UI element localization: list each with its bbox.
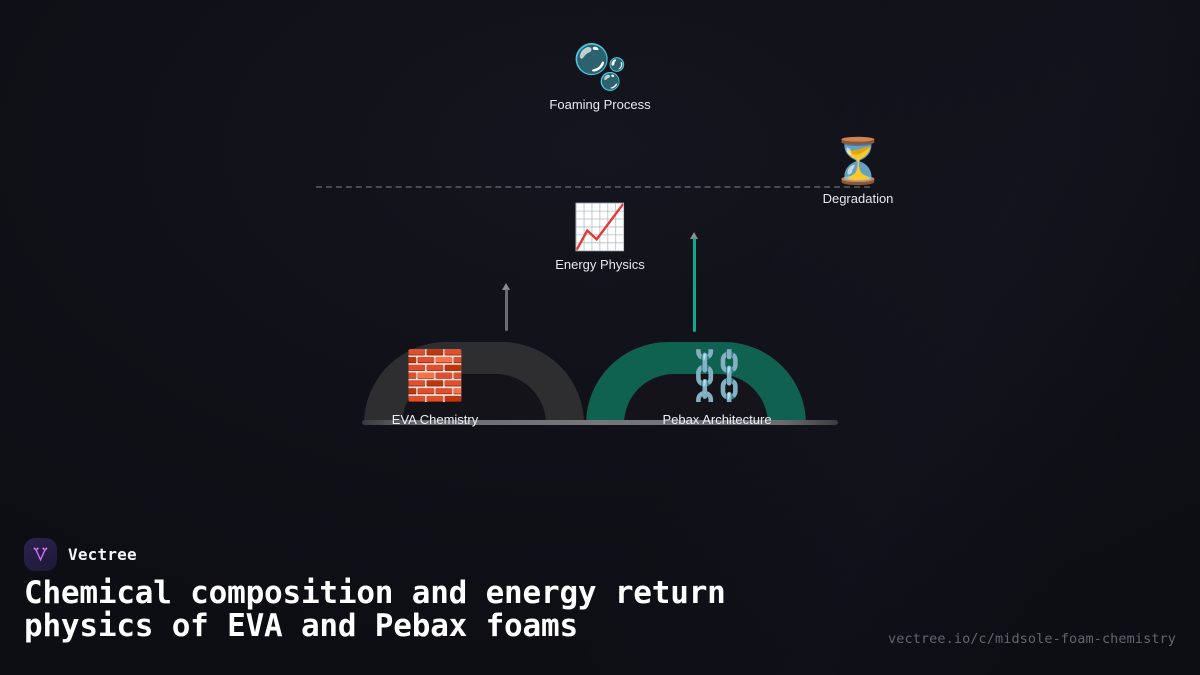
footer: Vectree Chemical composition and energy … [0, 515, 1200, 675]
footer-url: vectree.io/c/midsole-foam-chemistry [888, 631, 1176, 647]
node-degradation-label: Degradation [823, 191, 894, 206]
node-foaming-process[interactable]: 🫧 Foaming Process [549, 46, 650, 112]
chains-icon: ⛓️ [687, 352, 747, 400]
node-foaming-process-label: Foaming Process [549, 97, 650, 112]
hourglass-icon: ⏳ [823, 140, 894, 184]
diagram-scene: 🫧 Foaming Process ⏳ Degradation 📈 Energy… [0, 0, 1200, 500]
node-energy-physics-label: Energy Physics [555, 257, 645, 272]
chart-increasing-icon: 📈 [555, 206, 645, 250]
brick-wall-icon: 🧱 [405, 352, 465, 400]
energy-return-arrow-eva [505, 283, 508, 331]
arch-eva-chemistry-label: EVA Chemistry [392, 412, 478, 427]
degradation-timeline-dashed-line [316, 186, 870, 188]
arrow-shaft [505, 289, 508, 331]
page-title: Chemical composition and energy return p… [24, 577, 864, 644]
brand[interactable]: Vectree [24, 538, 137, 571]
arch-pebax-architecture-label: Pebax Architecture [662, 412, 771, 427]
vectree-logo-icon [24, 538, 57, 571]
bubbles-icon: 🫧 [549, 46, 650, 90]
energy-return-arrow-pebax [693, 232, 696, 332]
arrow-shaft [693, 238, 696, 332]
node-energy-physics[interactable]: 📈 Energy Physics [555, 206, 645, 272]
node-degradation[interactable]: ⏳ Degradation [823, 140, 894, 206]
slide-canvas: 🫧 Foaming Process ⏳ Degradation 📈 Energy… [0, 0, 1200, 675]
brand-name: Vectree [68, 545, 137, 564]
